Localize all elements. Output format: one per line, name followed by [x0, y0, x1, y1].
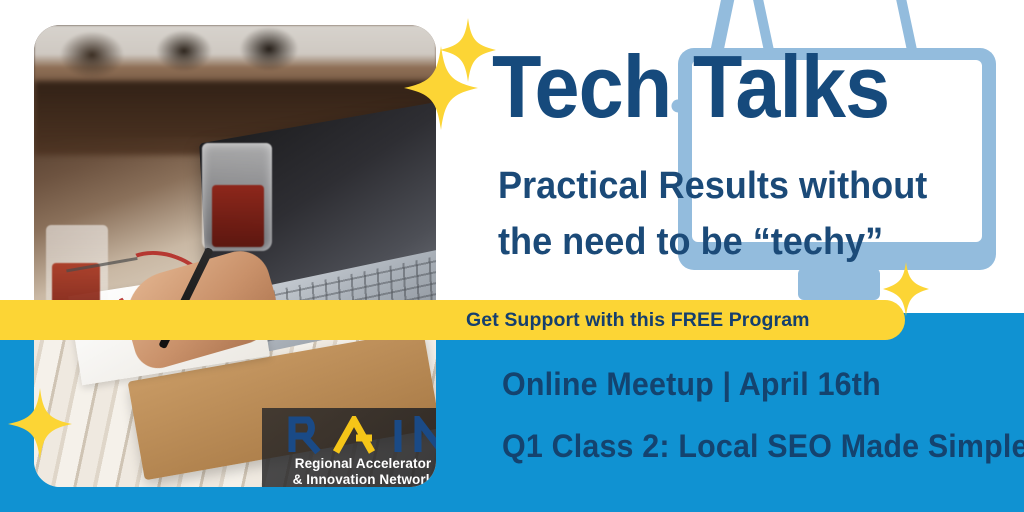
cta-banner[interactable]: Get Support with this FREE Program: [0, 300, 905, 340]
sparkle-icon-bottom-left: [8, 388, 72, 460]
subtitle-line-2: the need to be “techy”: [498, 214, 927, 270]
rain-tagline: Regional Accelerator & Innovation Networ…: [262, 456, 436, 487]
workspace-photo: Regional Accelerator & Innovation Networ…: [34, 25, 436, 487]
rain-tagline-line2: & Innovation Network: [262, 472, 436, 487]
class-title: Q1 Class 2: Local SEO Made Simple: [502, 428, 1024, 465]
page-title: Tech Talks: [492, 44, 889, 130]
cta-label: Get Support with this FREE Program: [466, 309, 810, 332]
promo-banner: Regional Accelerator & Innovation Networ…: [0, 0, 1024, 512]
subtitle: Practical Results without the need to be…: [498, 158, 927, 270]
sparkle-icon-small-top: [440, 18, 496, 82]
subtitle-line-1: Practical Results without: [498, 158, 927, 214]
rain-wordmark: [286, 416, 436, 454]
event-details: Online Meetup | April 16th: [502, 366, 881, 403]
rain-logo: Regional Accelerator & Innovation Networ…: [262, 408, 436, 487]
rain-tagline-line1: Regional Accelerator: [262, 456, 436, 472]
